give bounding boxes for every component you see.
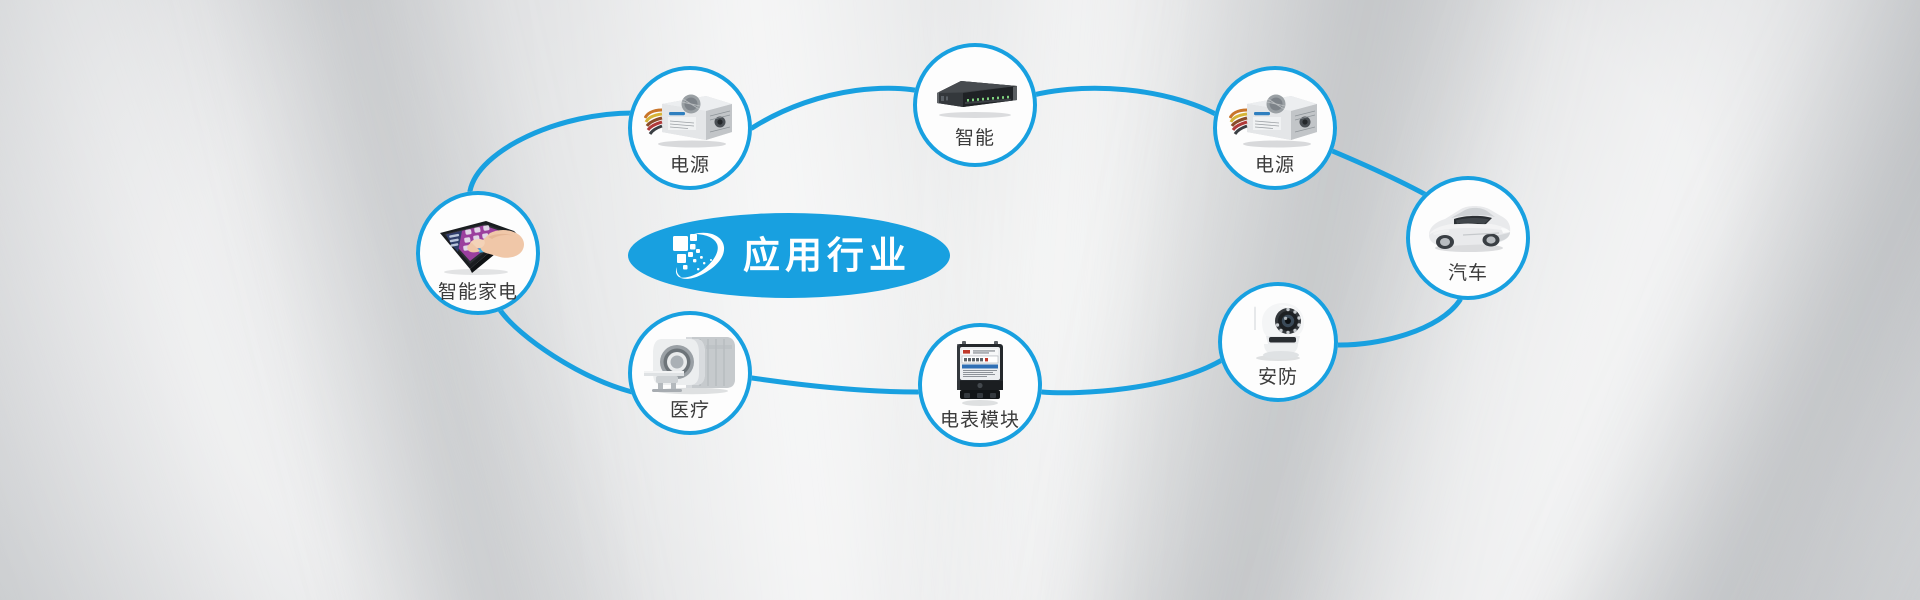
node-label: 医疗 xyxy=(628,395,752,422)
node-power-right[interactable]: 电源 xyxy=(1213,66,1337,190)
rack-server-icon xyxy=(927,73,1023,124)
node-label: 电表模块 xyxy=(918,405,1042,432)
atx-power-supply-icon xyxy=(1229,90,1321,153)
node-security[interactable]: 安防 xyxy=(1218,282,1338,402)
node-label: 智能 xyxy=(913,123,1037,150)
atx-power-supply-icon xyxy=(644,90,736,153)
ct-scanner-icon xyxy=(640,333,740,400)
ip-camera-icon xyxy=(1238,300,1318,367)
pixel-orbit-logo-icon xyxy=(667,228,729,284)
tablet-hand-icon xyxy=(428,217,528,282)
node-label: 安防 xyxy=(1218,362,1338,389)
node-automotive[interactable]: 汽车 xyxy=(1406,176,1530,300)
application-industries-banner: 电源 xyxy=(0,0,1920,600)
node-power-left[interactable]: 电源 xyxy=(628,66,752,190)
node-medical[interactable]: 医疗 xyxy=(628,311,752,435)
center-badge[interactable]: 应用行业 xyxy=(628,213,950,298)
node-smart-home[interactable]: 智能家电 xyxy=(416,191,540,315)
node-label: 汽车 xyxy=(1406,258,1530,285)
electric-meter-icon xyxy=(949,339,1011,412)
node-label: 电源 xyxy=(1213,150,1337,177)
node-label: 电源 xyxy=(628,150,752,177)
badge-label: 应用行业 xyxy=(743,237,911,274)
node-smart[interactable]: 智能 xyxy=(913,43,1037,167)
node-label: 智能家电 xyxy=(416,277,540,304)
node-meter-module[interactable]: 电表模块 xyxy=(918,323,1042,447)
sports-car-icon xyxy=(1421,202,1515,259)
